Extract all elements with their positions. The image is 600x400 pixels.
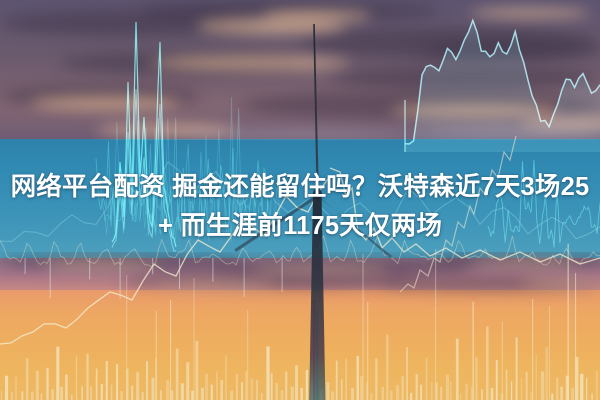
- cloud-streak: [330, 66, 600, 90]
- cloud-streak: [520, 118, 600, 129]
- cloud-streak: [250, 266, 390, 273]
- cloud-streak: [120, 274, 420, 288]
- cloud-streak: [196, 18, 346, 34]
- cloud-streak: [420, 128, 600, 137]
- cloud-layer-horizon: [0, 252, 600, 312]
- cloud-streak: [210, 258, 470, 276]
- cloud-streak: [30, 96, 180, 110]
- cloud-streak: [0, 254, 240, 270]
- headline-line-1: 网络平台配资 掘金还能留住吗？沃特森近7天3场25: [0, 168, 600, 207]
- cloud-streak: [140, 0, 440, 22]
- cloud-streak: [150, 282, 280, 288]
- cloud-streak: [240, 92, 600, 118]
- cloud-streak: [390, 104, 560, 117]
- cloud-streak: [0, 10, 260, 36]
- cloud-streak: [430, 252, 600, 268]
- cloud-streak: [470, 260, 580, 267]
- cloud-streak: [0, 86, 200, 106]
- cloud-streak: [420, 40, 600, 60]
- cloud-streak: [380, 278, 600, 291]
- banner-image: 网络平台配资 掘金还能留住吗？沃特森近7天3场25 + 而生涯前1175天仅两场: [0, 0, 600, 400]
- cloud-streak: [60, 52, 300, 74]
- cloud-streak: [470, 8, 590, 18]
- cloud-streak: [300, 28, 600, 58]
- cloud-streak: [40, 262, 160, 270]
- cloud-streak: [180, 130, 420, 140]
- cloud-streak: [96, 124, 236, 136]
- cloud-streak: [520, 280, 600, 286]
- headline-line-2: + 而生涯前1175天仅两场: [0, 207, 600, 246]
- headline-text: 网络平台配资 掘金还能留住吗？沃特森近7天3场25 + 而生涯前1175天仅两场: [0, 168, 600, 246]
- cloud-streak: [150, 56, 350, 70]
- cloud-layer-sky: [0, 0, 600, 140]
- cloud-streak: [262, 10, 372, 22]
